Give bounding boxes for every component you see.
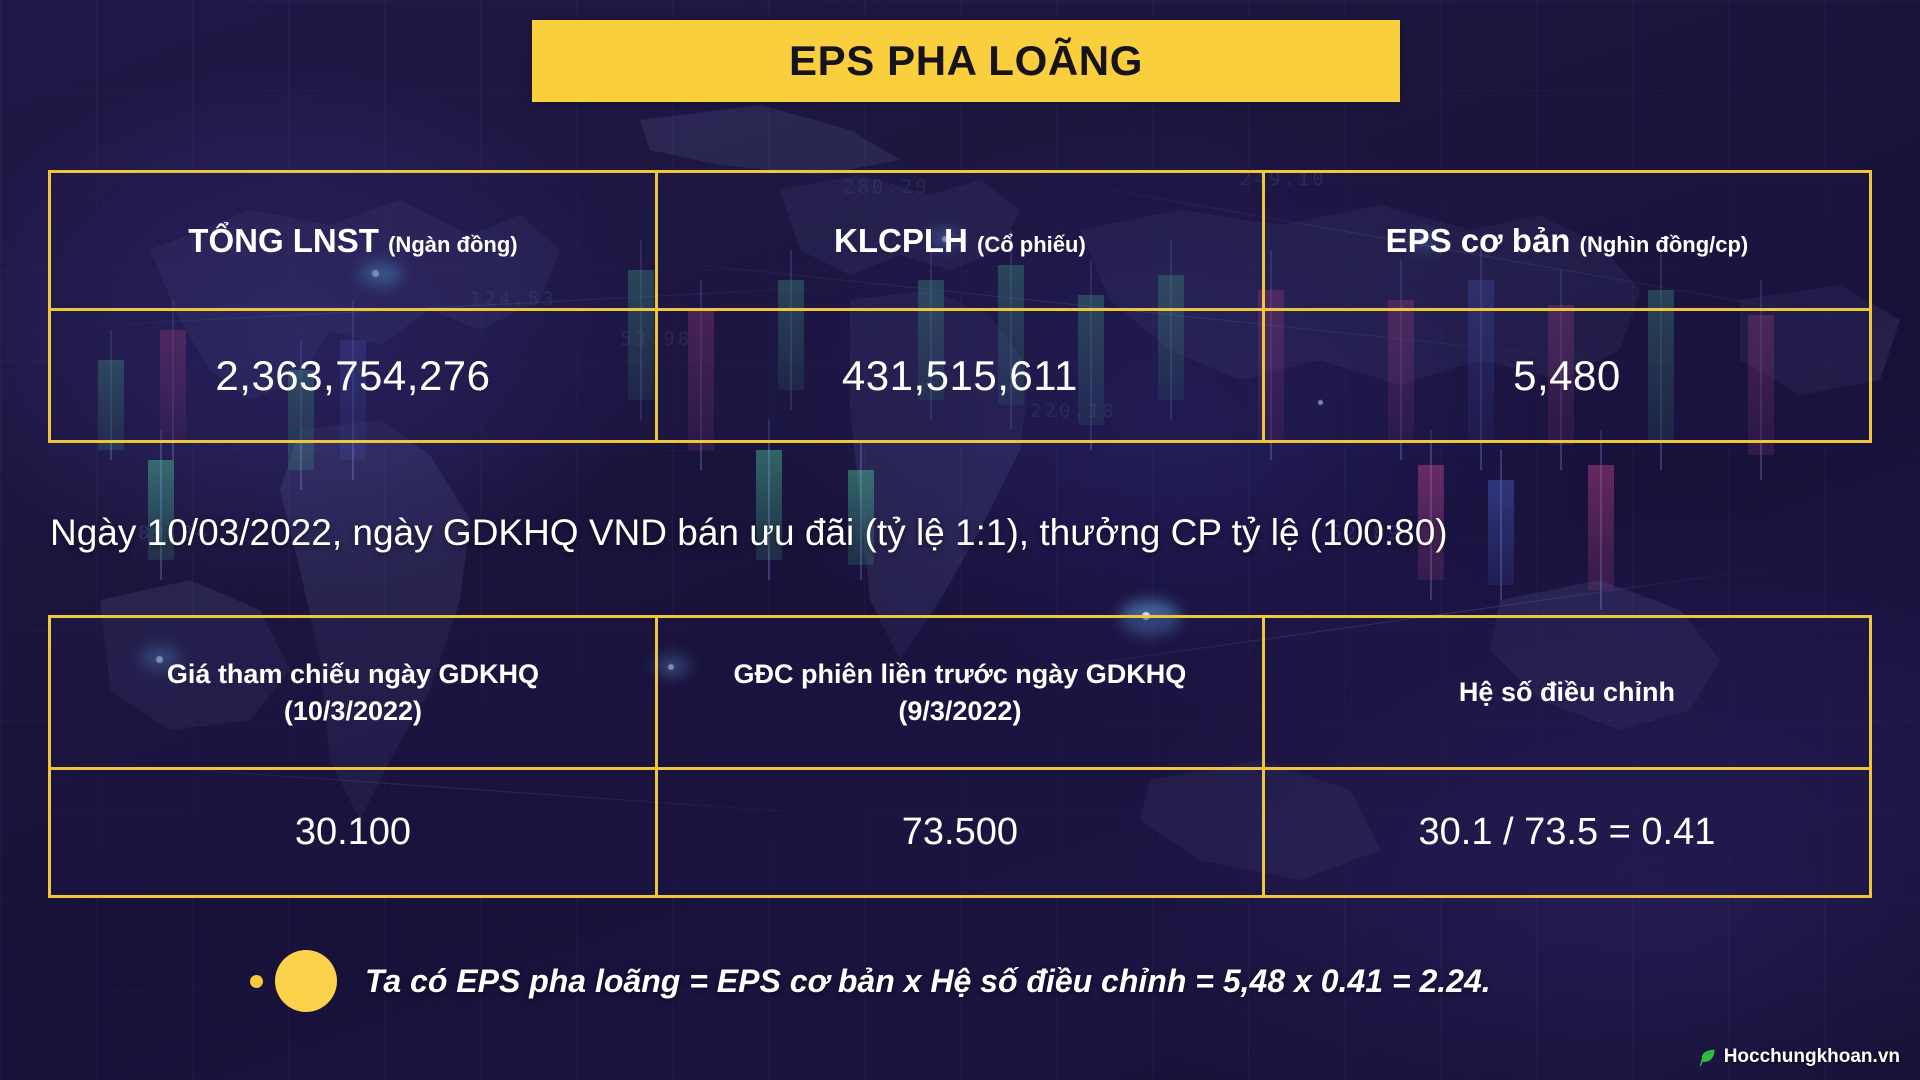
table1-header-cell-1: KLCPLH (Cổ phiếu): [656, 172, 1263, 310]
table2-header-cell-2: Hệ số điều chỉnh: [1263, 617, 1870, 769]
table2-value-2: 30.1 / 73.5 = 0.41: [1263, 769, 1870, 897]
table2-header-1-line2: (9/3/2022): [658, 693, 1262, 729]
leaf-icon: [1697, 1047, 1718, 1068]
table2-header-0-line2: (10/3/2022): [51, 693, 655, 729]
watermark: Hocchungkhoan.vn: [1697, 1046, 1900, 1068]
table1-header-1-unit: (Cổ phiếu): [977, 232, 1086, 257]
table1-header-cell-0: TỔNG LNST (Ngàn đồng): [50, 172, 657, 310]
table1-value-2: 5,480: [1263, 310, 1870, 442]
table1-value-1: 431,515,611: [656, 310, 1263, 442]
table2-value-1: 73.500: [656, 769, 1263, 897]
table2-value-0: 30.100: [50, 769, 657, 897]
conclusion-bullet: Ta có EPS pha loãng = EPS cơ bản x Hệ số…: [250, 950, 1491, 1012]
table1-header-0-unit: (Ngàn đồng): [388, 232, 518, 257]
table1-value-0: 2,363,754,276: [50, 310, 657, 442]
table-row: 2,363,754,276 431,515,611 5,480: [50, 310, 1871, 442]
conclusion-text: Ta có EPS pha loãng = EPS cơ bản x Hệ số…: [365, 963, 1491, 1000]
adjustment-factor-table: Giá tham chiếu ngày GDKHQ (10/3/2022) GĐ…: [48, 615, 1872, 898]
large-dot-icon: [275, 950, 337, 1012]
eps-basic-table: TỔNG LNST (Ngàn đồng) KLCPLH (Cổ phiếu) …: [48, 170, 1872, 443]
table1-header-2-unit: (Nghìn đồng/cp): [1580, 232, 1749, 257]
title-banner: EPS PHA LOÃNG: [532, 20, 1400, 102]
watermark-text: Hocchungkhoan.vn: [1724, 1046, 1900, 1068]
table1-header-cell-2: EPS cơ bản (Nghìn đồng/cp): [1263, 172, 1870, 310]
table2-header-cell-0: Giá tham chiếu ngày GDKHQ (10/3/2022): [50, 617, 657, 769]
table2-header-2-line1: Hệ số điều chỉnh: [1265, 674, 1869, 710]
slide-root: 124.5353.98280.29249.1089.04220.1862.89 …: [0, 0, 1920, 1080]
table2-header-1-line1: GĐC phiên liền trước ngày GDKHQ: [658, 656, 1262, 692]
small-dot-icon: [250, 975, 263, 988]
page-title: EPS PHA LOÃNG: [789, 37, 1143, 85]
table1-header-0-main: TỔNG LNST: [188, 222, 379, 259]
table2-header-0-line1: Giá tham chiếu ngày GDKHQ: [51, 656, 655, 692]
table1-header-1-main: KLCPLH: [834, 222, 968, 259]
table-header-row: Giá tham chiếu ngày GDKHQ (10/3/2022) GĐ…: [50, 617, 1871, 769]
table-header-row: TỔNG LNST (Ngàn đồng) KLCPLH (Cổ phiếu) …: [50, 172, 1871, 310]
mid-note-text: Ngày 10/03/2022, ngày GDKHQ VND bán ưu đ…: [50, 512, 1880, 554]
table1-header-2-main: EPS cơ bản: [1386, 222, 1571, 259]
table2-header-cell-1: GĐC phiên liền trước ngày GDKHQ (9/3/202…: [656, 617, 1263, 769]
table-row: 30.100 73.500 30.1 / 73.5 = 0.41: [50, 769, 1871, 897]
